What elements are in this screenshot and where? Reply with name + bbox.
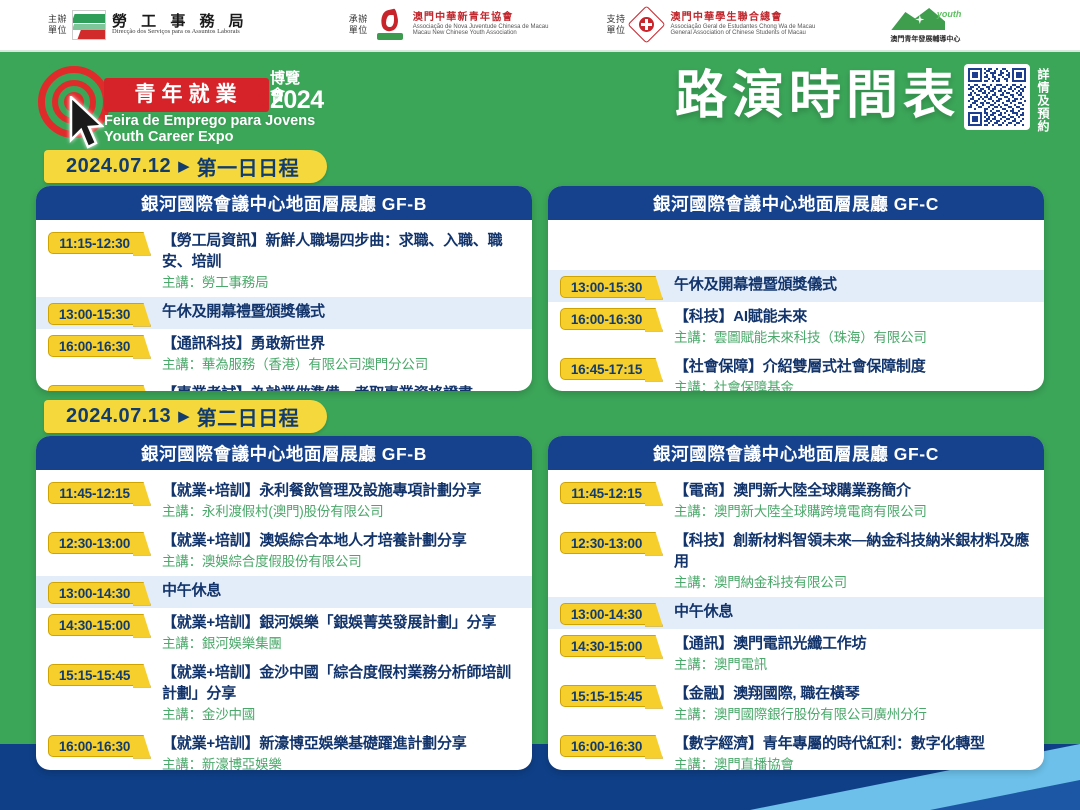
session-title: 午休及開幕禮暨頒獎儀式 xyxy=(162,301,518,322)
sponsor-name-cn: 勞 工 事 務 局 xyxy=(112,14,249,30)
session-time: 15:15-15:45 xyxy=(571,689,642,704)
expo-red-band: 青年就業 xyxy=(104,78,269,112)
session-time-badge: 16:00-16:30 xyxy=(560,735,652,757)
session-speaker: 主講：勞工事務局 xyxy=(162,273,518,293)
session-row[interactable]: 11:15-12:30 【勞工局資訊】新鮮人職場四步曲：求職、入職、職安、培訓 … xyxy=(36,226,532,297)
session-row[interactable]: 16:00-16:30 【科技】AI賦能未來 主講：雲圖賦能未來科技（珠海）有限… xyxy=(548,302,1044,352)
session-time: 14:30-15:00 xyxy=(59,618,130,633)
day-label: 第二日日程 xyxy=(197,402,300,431)
venue-header: 銀河國際會議中心地面層展廳 GF-B xyxy=(36,436,532,470)
session-row[interactable]: 16:45-17:15 【專業考試】為就業做準備，考取專業資格證書 主講：澳門生… xyxy=(36,379,532,391)
venue-card-d2-gfc: 銀河國際會議中心地面層展廳 GF-C 11:45-12:15 【電商】澳門新大陸… xyxy=(548,436,1044,770)
venue-name: 銀河國際會議中心地面層展廳 GF-C xyxy=(653,191,939,216)
session-speaker: 主講：澳門電訊 xyxy=(674,655,1030,675)
session-row[interactable]: 13:00-14:30 中午休息 xyxy=(36,576,532,608)
session-time-badge: 14:30-15:00 xyxy=(48,614,140,636)
session-speaker: 主講：澳門納金科技有限公司 xyxy=(674,573,1030,593)
session-title: 【就業+培訓】銀河娛樂「銀娛菁英發展計劃」分享 xyxy=(162,612,518,633)
session-time: 13:00-15:30 xyxy=(571,280,642,295)
session-title: 【科技】AI賦能未來 xyxy=(674,306,1030,327)
venue-name: 銀河國際會議中心地面層展廳 GF-B xyxy=(141,191,427,216)
sponsor-students-union: 支持 單位 澳門中華學生聯合總會 Associação Geral de Est… xyxy=(606,10,815,40)
venue-header: 銀河國際會議中心地面層展廳 GF-C xyxy=(548,186,1044,220)
session-time-badge: 13:00-15:30 xyxy=(560,276,652,298)
session-row[interactable]: 12:30-13:00 【就業+培訓】澳娛綜合本地人才培養計劃分享 主講：澳娛綜… xyxy=(36,526,532,576)
session-time: 14:30-15:00 xyxy=(571,639,642,654)
session-time-badge: 13:00-14:30 xyxy=(48,582,140,604)
session-time-badge: 12:30-13:00 xyxy=(560,532,652,554)
session-time-badge: 11:45-12:15 xyxy=(560,482,652,504)
session-time: 11:45-12:15 xyxy=(59,486,130,501)
session-title: 【電商】澳門新大陸全球購業務簡介 xyxy=(674,480,1030,501)
expo-logo: 青年就業 博覽會 2024 Feira de Emprego para Jove… xyxy=(38,62,308,144)
session-speaker: 主講：永利渡假村(澳門)股份有限公司 xyxy=(162,502,518,522)
sponsor-name-cn: 澳門中華新青年協會 xyxy=(413,13,549,24)
session-title: 【就業+培訓】永利餐飲管理及設施專項計劃分享 xyxy=(162,480,518,501)
session-speaker: 主講：雲圖賦能未來科技（珠海）有限公司 xyxy=(674,328,1030,348)
sponsor-name-en: General Association of Chinese Students … xyxy=(670,30,815,36)
session-time: 12:30-13:00 xyxy=(59,536,130,551)
sponsor-role-organiser: 主辦 單位 xyxy=(48,14,67,36)
session-speaker: 主講：華為服務（香港）有限公司澳門分公司 xyxy=(162,355,518,375)
session-speaker: 主講：澳門直播協會 xyxy=(674,755,1030,770)
session-title: 中午休息 xyxy=(162,580,518,601)
session-row[interactable]: 13:00-15:30 午休及開幕禮暨頒獎儀式 xyxy=(36,297,532,329)
session-time: 13:00-14:30 xyxy=(59,586,130,601)
triangle-right-icon: ▶ xyxy=(178,159,190,174)
triangle-right-icon: ▶ xyxy=(178,409,190,424)
sponsor-role-support: 支持 單位 xyxy=(606,14,625,36)
session-title: 【就業+培訓】澳娛綜合本地人才培養計劃分享 xyxy=(162,530,518,551)
session-title: 【金融】澳翔國際, 職在橫琴 xyxy=(674,683,1030,704)
sponsor-dsal: 主辦 單位 勞 工 事 務 局 Direcção dos Serviços pa… xyxy=(48,10,249,40)
sponsor-bar: 主辦 單位 勞 工 事 務 局 Direcção dos Serviços pa… xyxy=(0,0,1080,52)
session-title: 中午休息 xyxy=(674,601,1030,622)
session-speaker: 主講：社會保障基金 xyxy=(674,378,1030,391)
session-title: 【就業+培訓】金沙中國「綜合度假村業務分析師培訓計劃」分享 xyxy=(162,662,518,704)
venue-card-d2-gfb: 銀河國際會議中心地面層展廳 GF-B 11:45-12:15 【就業+培訓】永利… xyxy=(36,436,532,770)
poster-canvas: 青年就業 博覽會 2024 Feira de Emprego para Jove… xyxy=(0,52,1080,810)
session-time: 16:00-16:30 xyxy=(59,739,130,754)
venue-name: 銀河國際會議中心地面層展廳 GF-B xyxy=(141,441,427,466)
session-time-badge: 16:45-17:15 xyxy=(48,385,140,391)
expo-subtitle-en: Youth Career Expo xyxy=(104,129,233,145)
session-row[interactable]: 14:30-15:00 【就業+培訓】銀河娛樂「銀娛菁英發展計劃」分享 主講：銀… xyxy=(36,608,532,658)
session-title: 【科技】創新材料智領未來—納金科技納米銀材料及應用 xyxy=(674,530,1030,572)
dsal-logo-icon xyxy=(72,10,106,40)
day-label: 第一日日程 xyxy=(197,152,300,181)
session-time: 16:00-16:30 xyxy=(571,739,642,754)
sponsor-mncya: 承辦 單位 澳門中華新青年協會 Associação de Nova Juven… xyxy=(349,10,549,40)
session-title: 【社會保障】介紹雙層式社會保障制度 xyxy=(674,356,1030,377)
session-title: 【專業考試】為就業做準備，考取專業資格證書 xyxy=(162,383,518,391)
session-time: 15:15-15:45 xyxy=(59,668,130,683)
session-time-badge: 16:00-16:30 xyxy=(48,335,140,357)
session-time-badge: 11:15-12:30 xyxy=(48,232,140,254)
session-speaker: 主講：澳門新大陸全球購跨境電商有限公司 xyxy=(674,502,1030,522)
session-time-badge: 15:15-15:45 xyxy=(48,664,140,686)
expo-band-text: 青年就業 xyxy=(104,78,269,112)
session-time-badge: 16:00-16:30 xyxy=(48,735,140,757)
venue-header: 銀河國際會議中心地面層展廳 GF-B xyxy=(36,186,532,220)
session-row[interactable]: 14:30-15:00 【通訊】澳門電訊光纖工作坊 主講：澳門電訊 xyxy=(548,629,1044,679)
session-title: 【數字經濟】青年專屬的時代紅利：數字化轉型 xyxy=(674,733,1030,754)
session-row[interactable]: 12:30-13:00 【科技】創新材料智領未來—納金科技納米銀材料及應用 主講… xyxy=(548,526,1044,597)
sponsor-name-en: Macau New Chinese Youth Association xyxy=(413,30,549,36)
qr-code[interactable] xyxy=(964,64,1030,130)
session-title: 【勞工局資訊】新鮮人職場四步曲：求職、入職、職安、培訓 xyxy=(162,230,518,272)
session-row[interactable]: 15:15-15:45 【就業+培訓】金沙中國「綜合度假村業務分析師培訓計劃」分… xyxy=(36,658,532,729)
session-time-badge: 15:15-15:45 xyxy=(560,685,652,707)
session-title: 午休及開幕禮暨頒獎儀式 xyxy=(674,274,1030,295)
session-time: 11:45-12:15 xyxy=(571,486,642,501)
page-title: 路演時間表 xyxy=(675,60,960,132)
expo-year: 2024 xyxy=(270,87,324,113)
day-date: 2024.07.12 xyxy=(66,155,171,178)
youth-logo-wordmark: youth xyxy=(937,10,962,19)
venue-card-d1-gfc: 銀河國際會議中心地面層展廳 GF-C 13:00-15:30 午休及開幕禮暨頒獎… xyxy=(548,186,1044,391)
venue-header: 銀河國際會議中心地面層展廳 GF-C xyxy=(548,436,1044,470)
sponsor-role-host: 承辦 單位 xyxy=(349,14,368,36)
youth-logo-caption: 澳門青年發展輔導中心 xyxy=(889,34,961,44)
flame-logo-icon xyxy=(373,10,407,40)
session-row[interactable]: 15:15-15:45 【金融】澳翔國際, 職在橫琴 主講：澳門國際銀行股份有限… xyxy=(548,679,1044,729)
session-title: 【就業+培訓】新濠博亞娛樂基礎躍進計劃分享 xyxy=(162,733,518,754)
session-speaker: 主講：銀河娛樂集團 xyxy=(162,634,518,654)
day-pill-2: 2024.07.13 ▶ 第二日日程 xyxy=(44,400,327,433)
session-row[interactable]: 13:00-15:30 午休及開幕禮暨頒獎儀式 xyxy=(548,270,1044,302)
session-speaker: 主講：澳門國際銀行股份有限公司廣州分行 xyxy=(674,705,1030,725)
session-row[interactable]: 16:45-17:15 【社會保障】介紹雙層式社會保障制度 主講：社會保障基金 xyxy=(548,352,1044,391)
session-time: 12:30-13:00 xyxy=(571,536,642,551)
qr-section: 詳情及預約 xyxy=(964,64,1054,142)
venue-card-d1-gfb: 銀河國際會議中心地面層展廳 GF-B 11:15-12:30 【勞工局資訊】新鮮… xyxy=(36,186,532,391)
diamond-logo-icon xyxy=(630,10,664,40)
session-time-badge: 13:00-14:30 xyxy=(560,603,652,625)
session-row[interactable]: 16:00-16:30 【數字經濟】青年專屬的時代紅利：數字化轉型 主講：澳門直… xyxy=(548,729,1044,770)
session-time-badge: 14:30-15:00 xyxy=(560,635,652,657)
sponsor-name-cn: 澳門中華學生聯合總會 xyxy=(670,13,815,24)
qr-caption: 詳情及預約 xyxy=(1034,68,1050,133)
session-title: 【通訊科技】勇敢新世界 xyxy=(162,333,518,354)
empty-slot xyxy=(548,226,1044,270)
cursor-arrow-icon xyxy=(68,96,104,150)
session-time: 11:15-12:30 xyxy=(59,236,130,251)
session-time-badge: 11:45-12:15 xyxy=(48,482,140,504)
session-time: 16:00-16:30 xyxy=(59,339,130,354)
session-row[interactable]: 11:45-12:15 【電商】澳門新大陸全球購業務簡介 主講：澳門新大陸全球購… xyxy=(548,476,1044,526)
session-row[interactable]: 16:00-16:30 【通訊科技】勇敢新世界 主講：華為服務（香港）有限公司澳… xyxy=(36,329,532,379)
session-time-badge: 16:00-16:30 xyxy=(560,308,652,330)
session-speaker: 主講：新濠博亞娛樂 xyxy=(162,755,518,770)
session-title: 【通訊】澳門電訊光纖工作坊 xyxy=(674,633,1030,654)
session-time-badge: 16:45-17:15 xyxy=(560,358,652,380)
day-date: 2024.07.13 xyxy=(66,405,171,428)
session-speaker: 主講：金沙中國 xyxy=(162,705,518,725)
session-time: 13:00-14:30 xyxy=(571,607,642,622)
session-row[interactable]: 16:00-16:30 【就業+培訓】新濠博亞娛樂基礎躍進計劃分享 主講：新濠博… xyxy=(36,729,532,770)
day-pill-1: 2024.07.12 ▶ 第一日日程 xyxy=(44,150,327,183)
venue-name: 銀河國際會議中心地面層展廳 GF-C xyxy=(653,441,939,466)
session-time: 13:00-15:30 xyxy=(59,307,130,322)
expo-subtitle-pt: Feira de Emprego para Jovens xyxy=(104,113,315,129)
session-time: 16:45-17:15 xyxy=(59,389,130,392)
youth-mountain-logo-icon: youth 澳門青年發展輔導中心 xyxy=(889,6,961,44)
session-time: 16:45-17:15 xyxy=(571,362,642,377)
sponsor-youth-centre: youth 澳門青年發展輔導中心 xyxy=(889,6,961,44)
session-speaker: 主講：澳娛綜合度假股份有限公司 xyxy=(162,552,518,572)
sponsor-name-pt: Direcção dos Serviços para os Assuntos L… xyxy=(112,29,249,36)
session-row[interactable]: 11:45-12:15 【就業+培訓】永利餐飲管理及設施專項計劃分享 主講：永利… xyxy=(36,476,532,526)
session-row[interactable]: 13:00-14:30 中午休息 xyxy=(548,597,1044,629)
session-time-badge: 12:30-13:00 xyxy=(48,532,140,554)
session-time-badge: 13:00-15:30 xyxy=(48,303,140,325)
session-time: 16:00-16:30 xyxy=(571,312,642,327)
